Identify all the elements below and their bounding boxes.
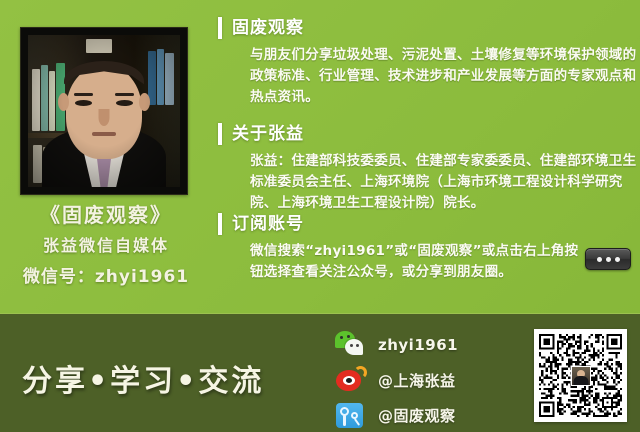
caption-title: 《固废观察》 <box>0 200 212 230</box>
tencent-weibo-icon <box>334 400 368 430</box>
social-label: @上海张益 <box>378 370 456 391</box>
profile-column: 《固废观察》 张益微信自媒体 微信号：zhyi1961 <box>0 0 212 313</box>
section-about-author: 关于张益 张益：住建部科技委委员、住建部专家委委员、住建部环境卫生标准委员会主任… <box>218 122 640 214</box>
social-row-wechat[interactable]: zhyi1961 <box>334 328 504 362</box>
promo-card: 《固废观察》 张益微信自媒体 微信号：zhyi1961 固废观察 与朋友们分享垃… <box>0 0 640 432</box>
section-subscribe: 订阅账号 微信搜索“zhyi1961”或“固废观察”或点击右上角按钮选择查看关注… <box>218 212 640 283</box>
caption-wechat-id: 微信号：zhyi1961 <box>0 262 212 292</box>
social-label: @固废观察 <box>378 405 456 426</box>
caption-subtitle: 张益微信自媒体 <box>0 230 212 262</box>
social-row-tencent-weibo[interactable]: @固废观察 <box>334 398 504 432</box>
footer-slogan: 分享•学习•交流 <box>22 356 322 400</box>
section-body: 与朋友们分享垃圾处理、污泥处置、土壤修复等环境保护领域的政策标准、行业管理、技术… <box>250 45 638 108</box>
section-header: 关于张益 <box>218 122 640 148</box>
profile-caption: 《固废观察》 张益微信自媒体 微信号：zhyi1961 <box>0 200 212 292</box>
portrait-photo-frame <box>20 27 188 195</box>
section-title: 关于张益 <box>232 124 304 144</box>
portrait-photo <box>28 35 180 187</box>
section-bar-icon <box>218 123 222 145</box>
section-bar-icon <box>218 17 222 39</box>
dot-icon <box>597 257 602 262</box>
more-options-button[interactable] <box>585 248 631 270</box>
footer-bar: 分享•学习•交流 zhyi1961 @上海张益 <box>0 313 640 432</box>
section-bar-icon <box>218 213 222 235</box>
section-header: 固废观察 <box>218 16 640 42</box>
qr-code[interactable] <box>534 329 627 422</box>
weibo-icon <box>334 365 368 395</box>
section-body: 微信搜索“zhyi1961”或“固废观察”或点击右上角按钮选择查看关注公众号，或… <box>250 241 580 283</box>
social-label: zhyi1961 <box>378 336 458 354</box>
social-row-weibo[interactable]: @上海张益 <box>334 363 504 397</box>
info-column: 固废观察 与朋友们分享垃圾处理、污泥处置、土壤修复等环境保护领域的政策标准、行业… <box>218 0 640 313</box>
dot-icon <box>606 257 611 262</box>
social-links: zhyi1961 @上海张益 @固废观察 <box>334 328 504 432</box>
wechat-icon <box>334 330 368 360</box>
dot-icon <box>615 257 620 262</box>
qr-center-avatar <box>571 366 591 386</box>
section-about-account: 固废观察 与朋友们分享垃圾处理、污泥处置、土壤修复等环境保护领域的政策标准、行业… <box>218 16 640 108</box>
section-body: 张益：住建部科技委委员、住建部专家委委员、住建部环境卫生标准委员会主任、上海环境… <box>250 151 638 214</box>
section-title: 固废观察 <box>232 18 304 38</box>
section-title: 订阅账号 <box>232 214 304 234</box>
section-header: 订阅账号 <box>218 212 640 238</box>
